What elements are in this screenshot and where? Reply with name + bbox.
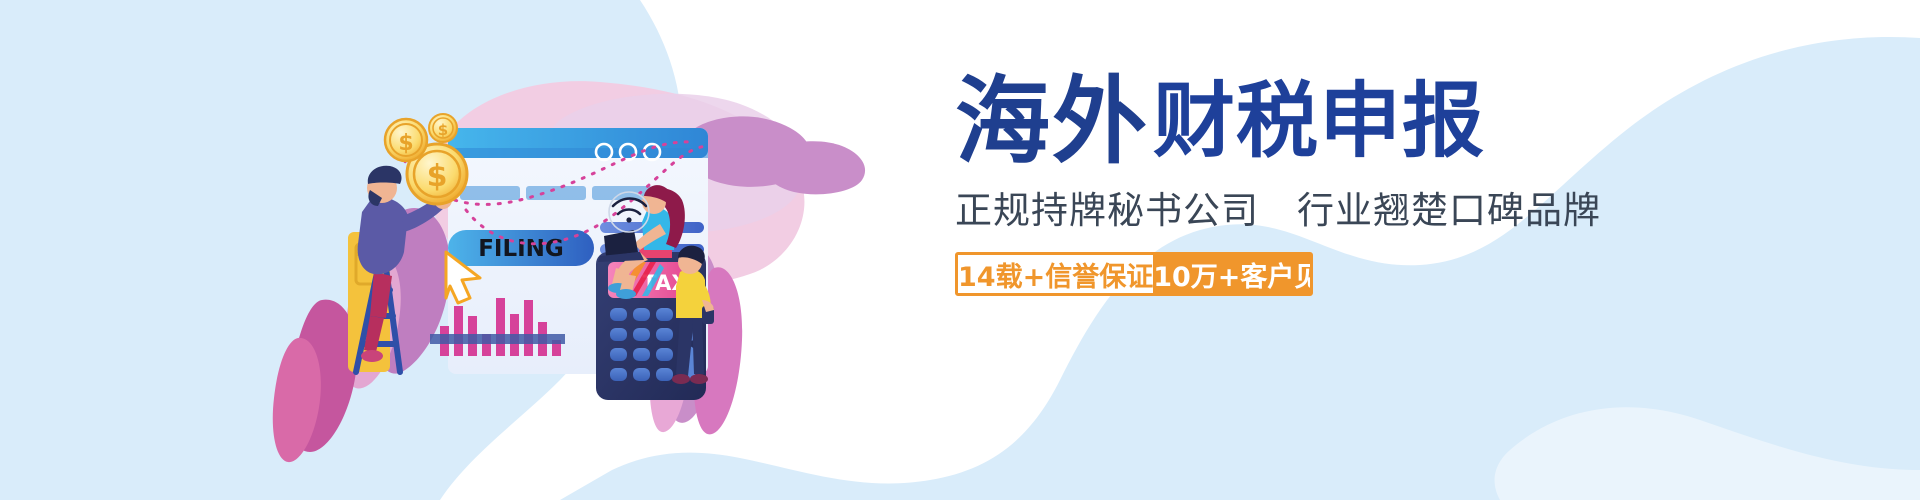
subtitle: 正规持牌秘书公司 行业翘楚口碑品牌 [955, 188, 1855, 234]
badge-experience: 14载+信誉保证 [958, 255, 1153, 293]
text-block: 海外财税申报 正规持牌秘书公司 行业翘楚口碑品牌 14载+信誉保证 10万+客户… [955, 72, 1855, 372]
dollar-coin-icon: $ [429, 114, 457, 142]
svg-text:$: $ [438, 121, 448, 139]
svg-text:$: $ [398, 131, 413, 156]
headline-part-b: 财税申报 [1153, 74, 1485, 169]
badge-clients: 10万+客户见证 [1153, 255, 1313, 293]
filing-button: FILING [448, 230, 594, 266]
dollar-coin-icon: $ [385, 119, 427, 161]
headline-part-a: 海外 [955, 67, 1149, 177]
promo-banner: FILING [0, 0, 1920, 500]
badge-group: 14载+信誉保证 10万+客户见证 [955, 252, 1313, 296]
svg-text:$: $ [427, 159, 448, 194]
coin-group: $ $ $ [385, 114, 467, 204]
svg-text:FILING: FILING [478, 236, 564, 262]
headline: 海外财税申报 [955, 72, 1855, 180]
